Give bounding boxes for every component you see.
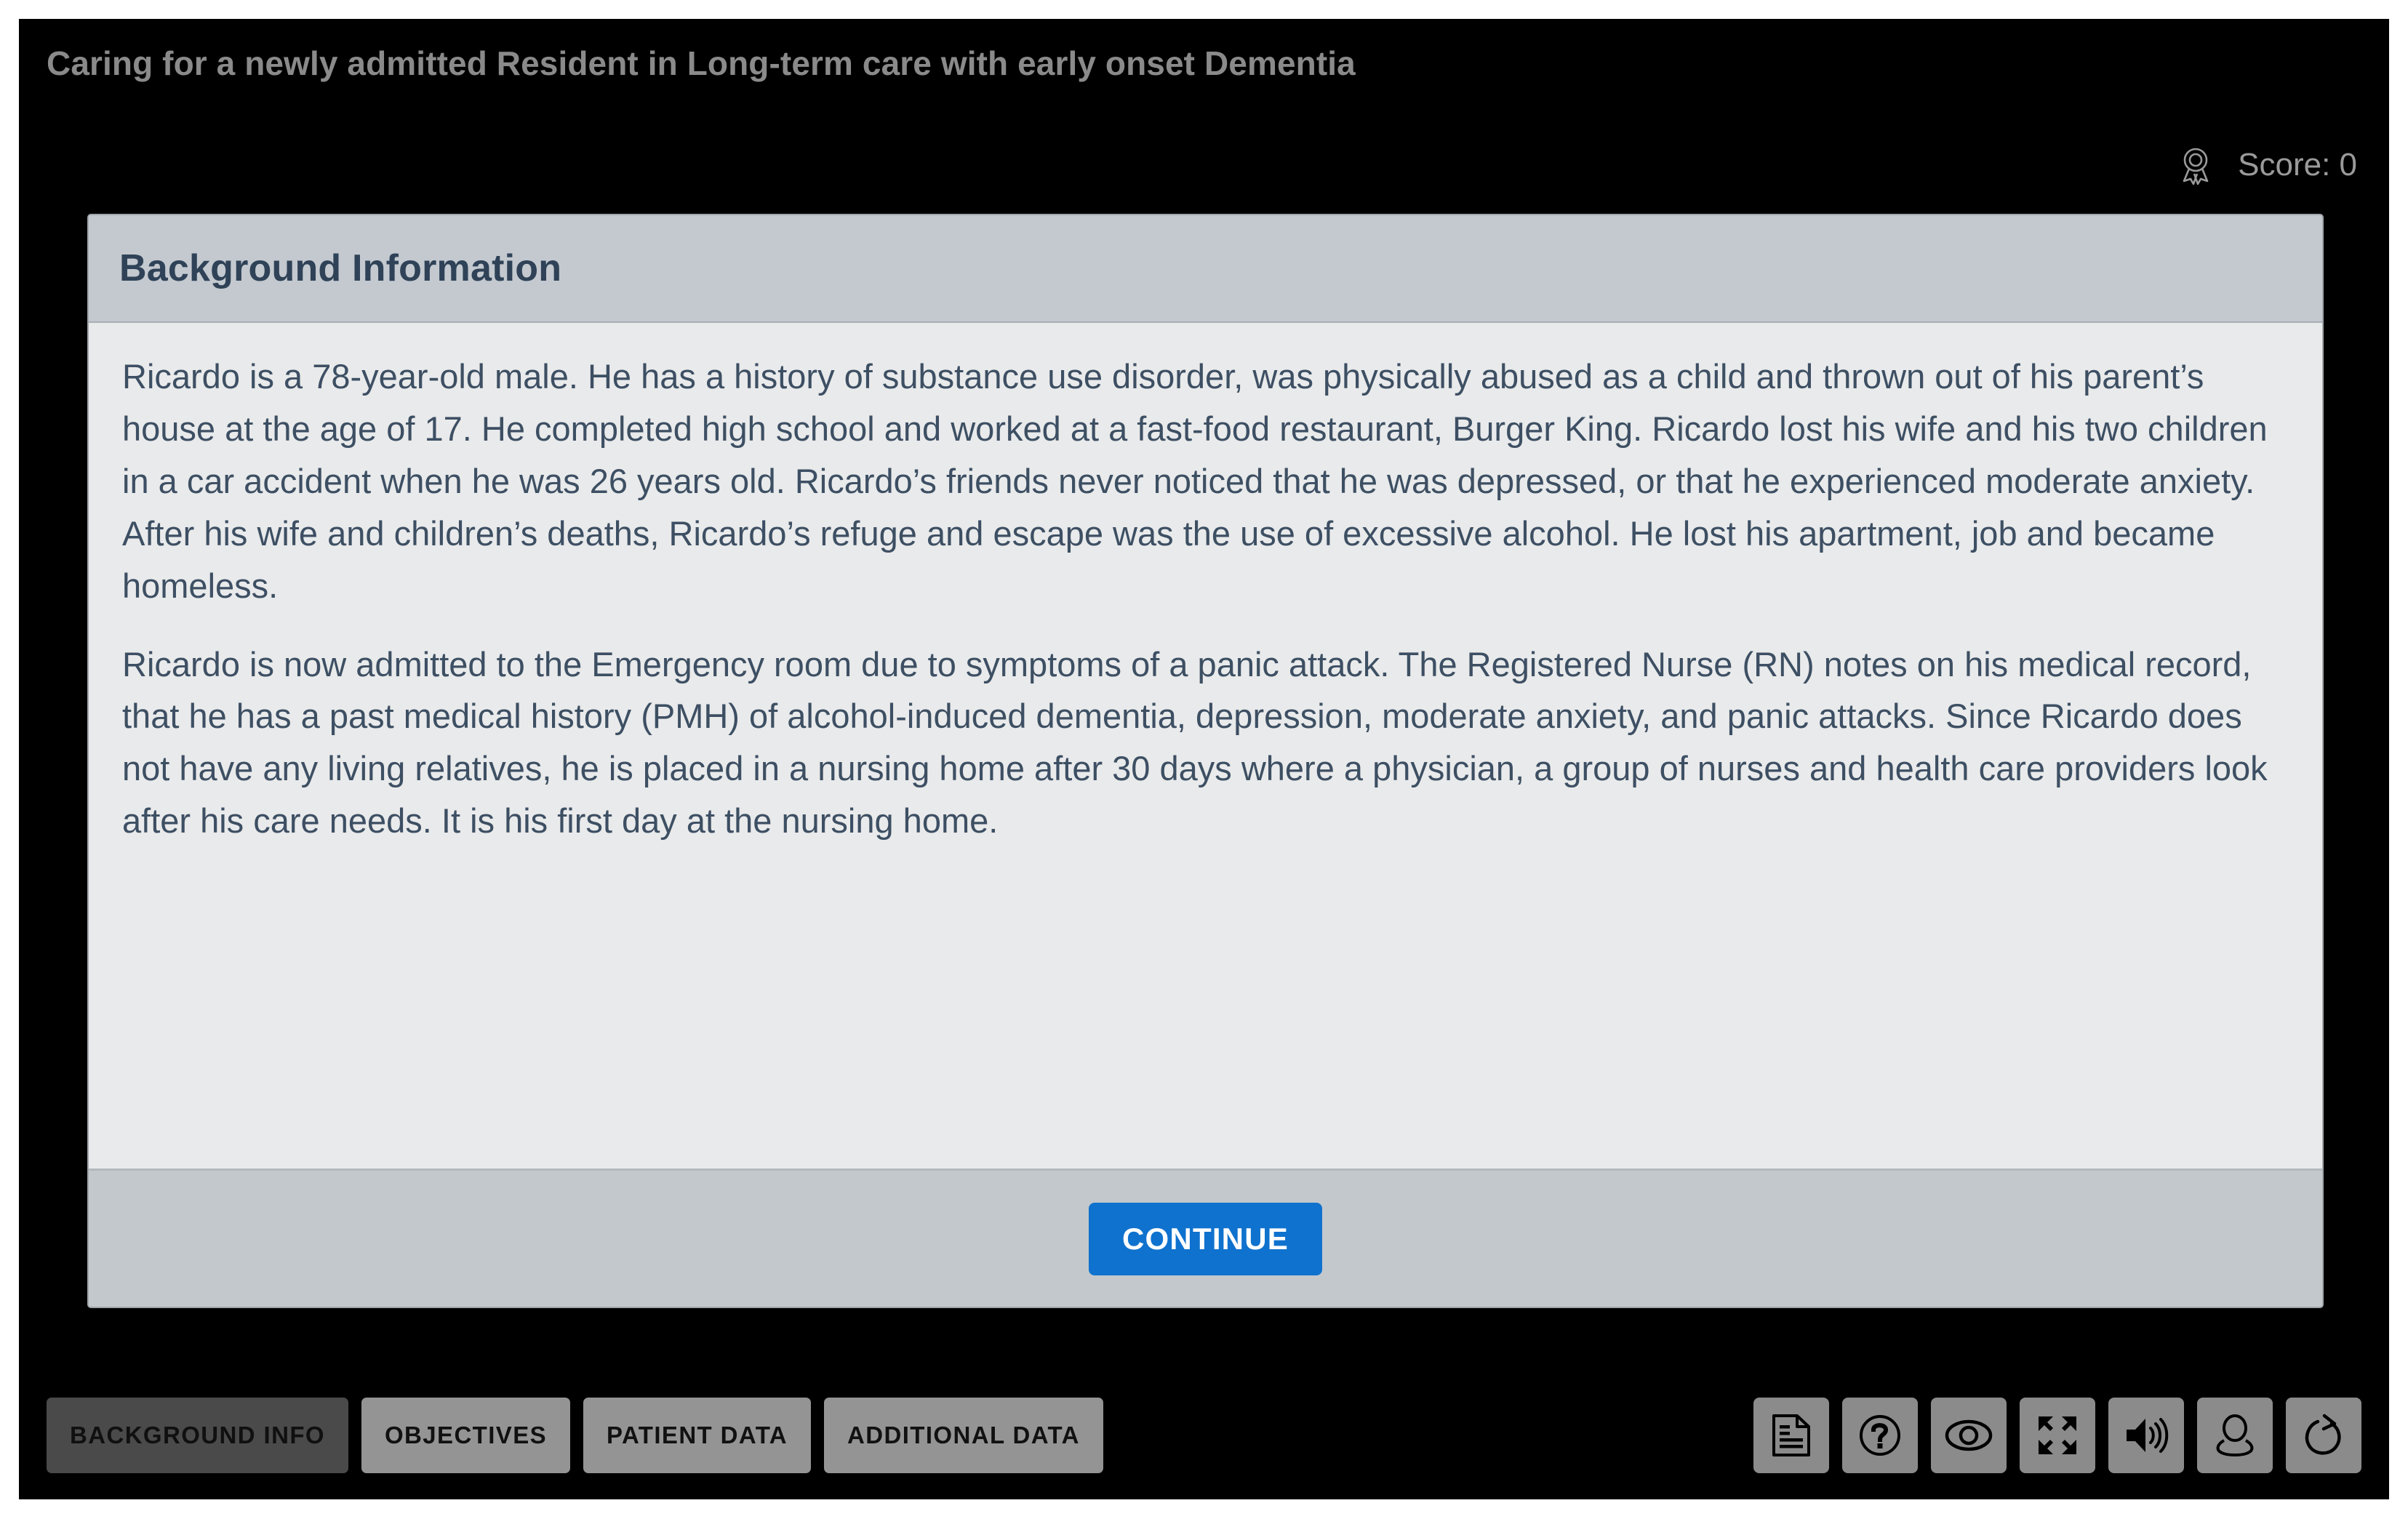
restart-icon bbox=[2303, 1414, 2345, 1457]
score-label: Score: 0 bbox=[2238, 147, 2357, 183]
panel-body: Ricardo is a 78-year-old male. He has a … bbox=[89, 323, 2322, 1169]
help-button[interactable] bbox=[1842, 1398, 1918, 1473]
page-title: Caring for a newly admitted Resident in … bbox=[47, 44, 1356, 83]
bottom-bar: BACKGROUND INFO OBJECTIVES PATIENT DATA … bbox=[19, 1398, 2389, 1478]
background-information-panel: Background Information Ricardo is a 78-y… bbox=[87, 214, 2324, 1308]
tool-group bbox=[1753, 1398, 2361, 1473]
title-bar: Caring for a newly admitted Resident in … bbox=[19, 19, 2389, 128]
panel-header: Background Information bbox=[89, 215, 2322, 323]
restart-button[interactable] bbox=[2286, 1398, 2361, 1473]
background-paragraph: Ricardo is now admitted to the Emergency… bbox=[122, 638, 2289, 848]
score-area: Score: 0 bbox=[2175, 145, 2357, 185]
eye-icon bbox=[1945, 1417, 1993, 1454]
award-ribbon-icon bbox=[2175, 145, 2216, 185]
tab-background-info[interactable]: BACKGROUND INFO bbox=[47, 1398, 348, 1473]
tab-patient-data[interactable]: PATIENT DATA bbox=[583, 1398, 811, 1473]
fullscreen-button[interactable] bbox=[2020, 1398, 2095, 1473]
tab-group: BACKGROUND INFO OBJECTIVES PATIENT DATA … bbox=[47, 1398, 1103, 1473]
help-icon bbox=[1858, 1414, 1902, 1457]
document-button[interactable] bbox=[1753, 1398, 1829, 1473]
document-icon bbox=[1771, 1414, 1812, 1457]
panel-title: Background Information bbox=[119, 247, 561, 290]
user-icon bbox=[2215, 1414, 2255, 1457]
tab-objectives[interactable]: OBJECTIVES bbox=[361, 1398, 570, 1473]
background-paragraph: Ricardo is a 78-year-old male. He has a … bbox=[122, 350, 2289, 612]
continue-button[interactable]: CONTINUE bbox=[1089, 1203, 1322, 1275]
volume-icon bbox=[2123, 1415, 2169, 1456]
panel-footer: CONTINUE bbox=[89, 1169, 2322, 1307]
app-canvas: Caring for a newly admitted Resident in … bbox=[19, 19, 2389, 1499]
view-button[interactable] bbox=[1931, 1398, 2007, 1473]
volume-button[interactable] bbox=[2108, 1398, 2184, 1473]
user-button[interactable] bbox=[2197, 1398, 2273, 1473]
tab-additional-data[interactable]: ADDITIONAL DATA bbox=[824, 1398, 1103, 1473]
fullscreen-icon bbox=[2036, 1414, 2079, 1456]
